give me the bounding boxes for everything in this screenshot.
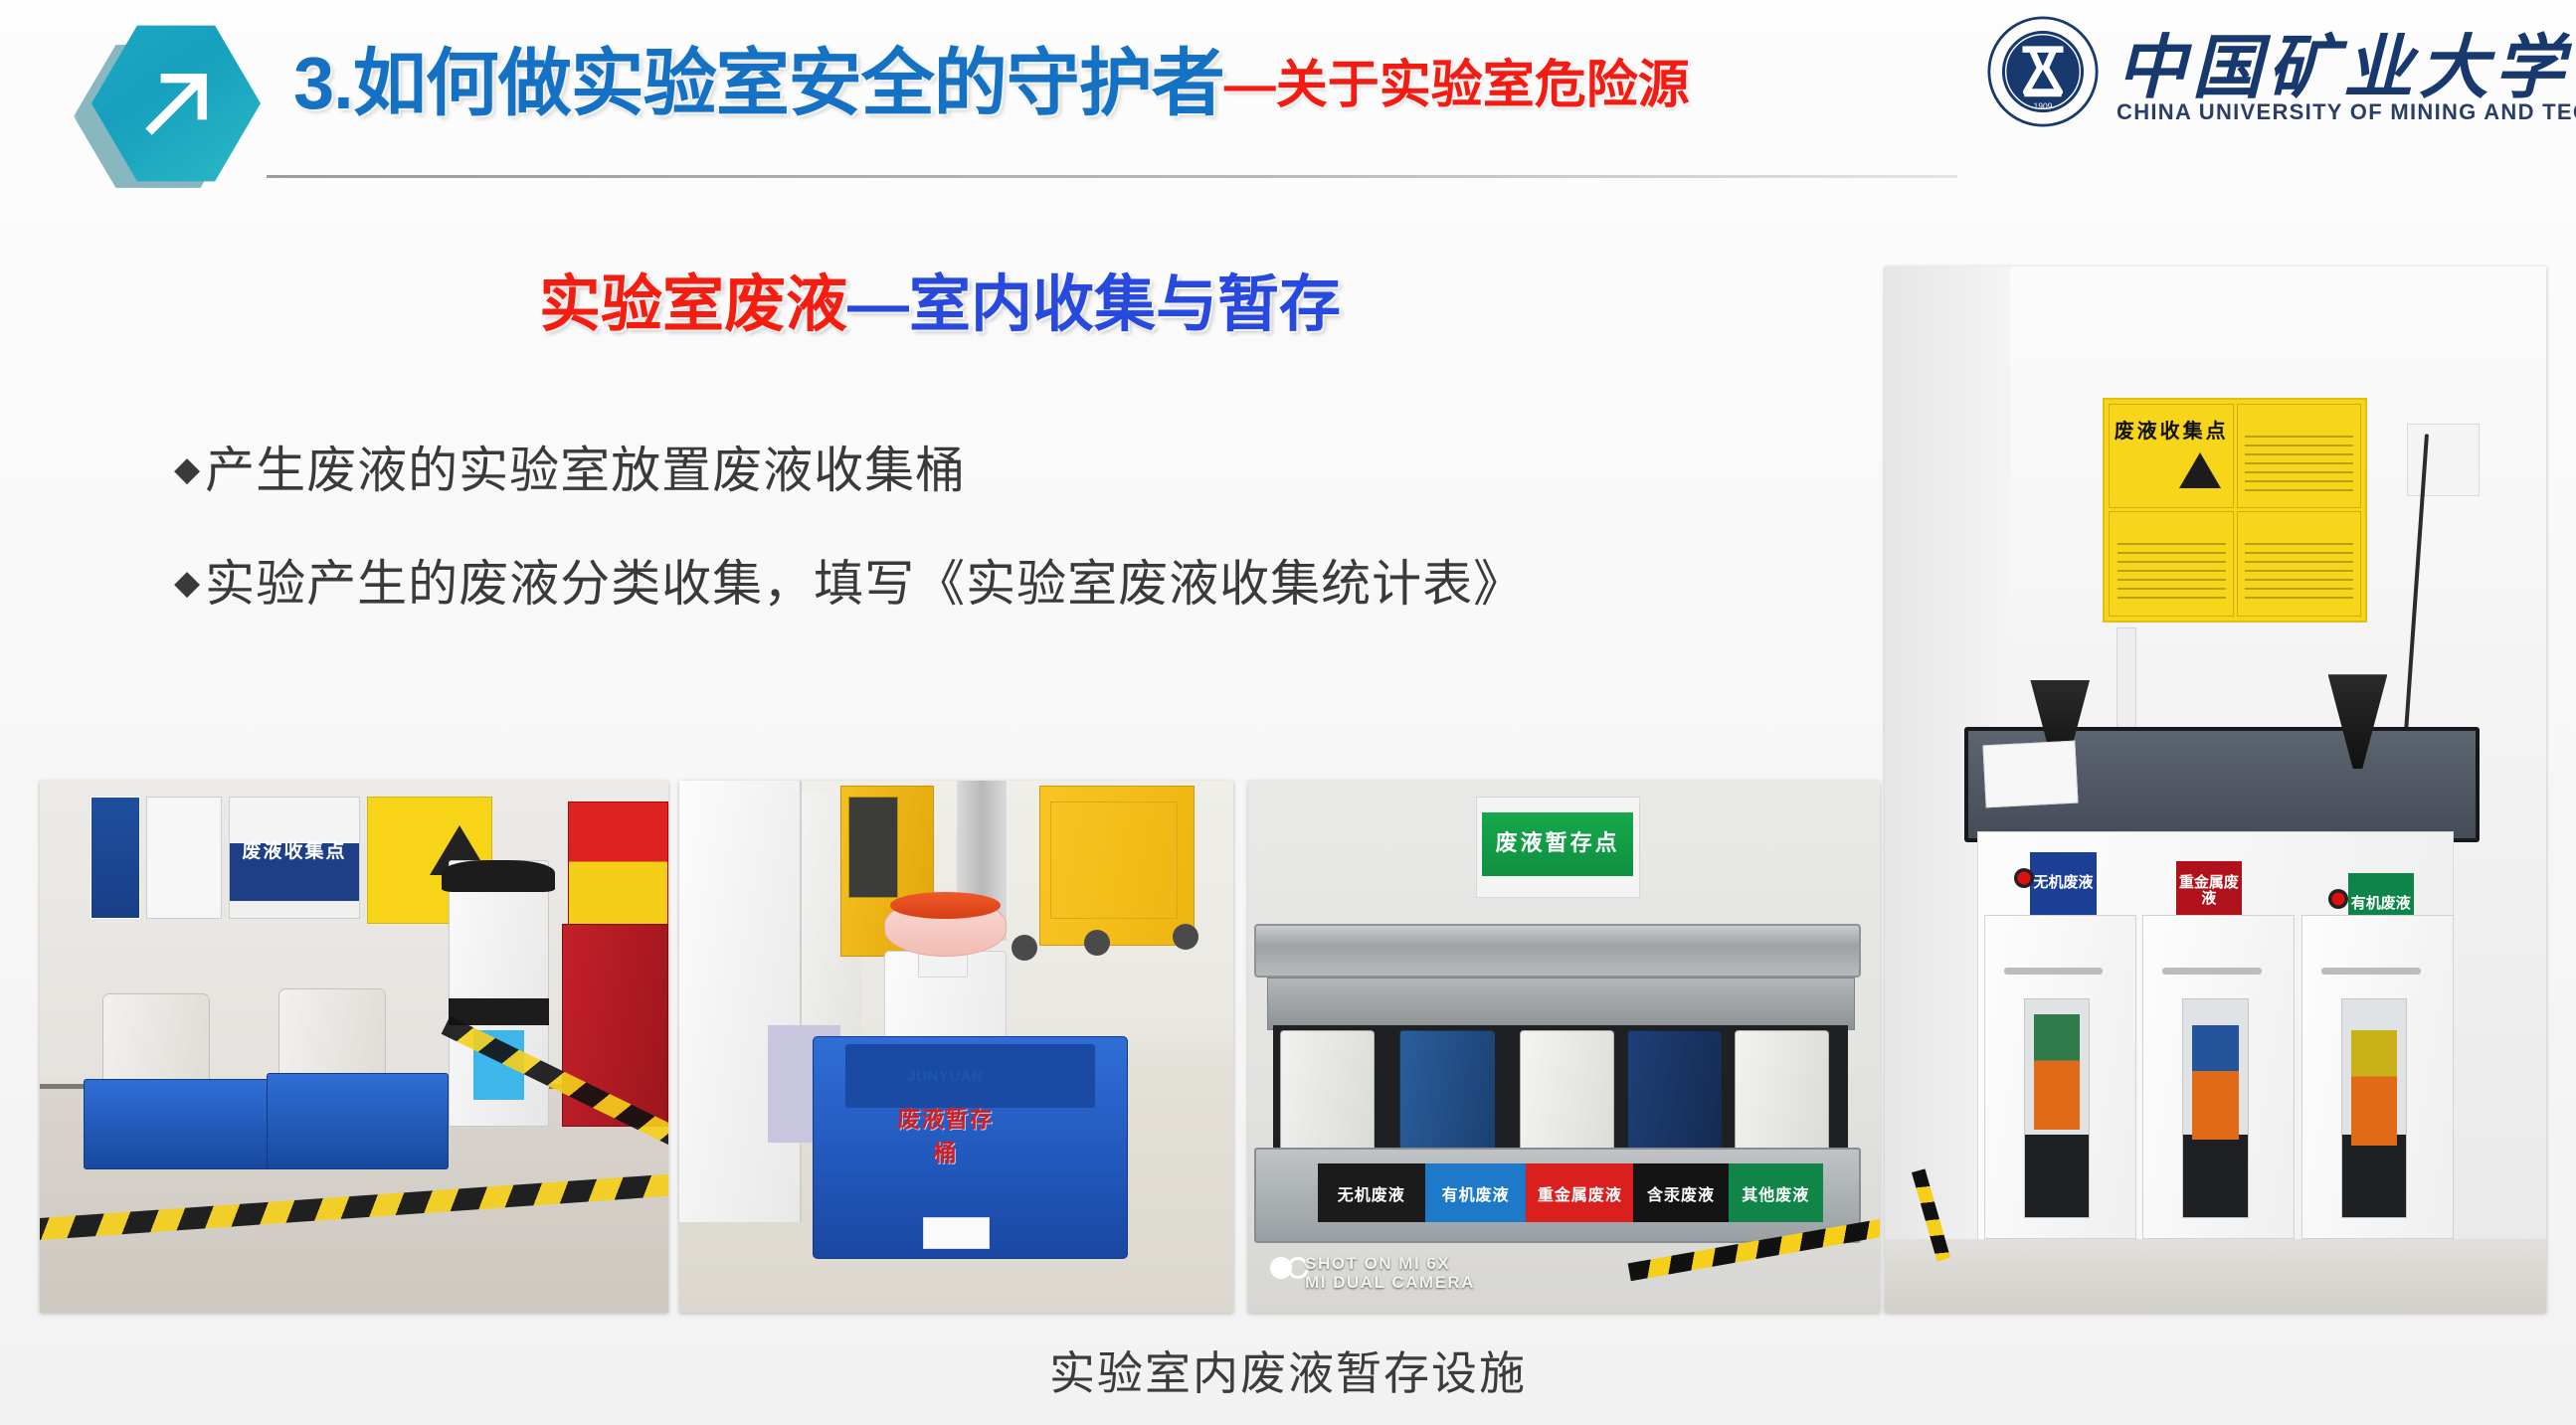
photo1-white-poster — [146, 797, 222, 919]
photo3-category-label: 无机废液 — [1318, 1163, 1425, 1222]
photo4-sign-cell-title: 废液收集点 — [2109, 404, 2234, 509]
photo4-pipe — [2116, 627, 2136, 732]
photo2-tray-tag — [923, 1217, 990, 1249]
photo4-wall-socket — [2407, 424, 2480, 497]
photo3-jerrycan — [1627, 1030, 1722, 1163]
photo3-category-label: 含汞废液 — [1633, 1163, 1728, 1222]
university-name-cn: 中国矿业大学 — [2116, 12, 2570, 112]
bullet-item: ◆产生废液的实验室放置废液收集桶 — [174, 445, 1815, 495]
photo3-green-sign-text: 废液暂存点 — [1482, 825, 1633, 857]
photo4-sign-text-lines — [2245, 543, 2353, 605]
photo3-rack-shelf — [1267, 978, 1855, 1031]
photo4-floor — [1885, 1239, 2546, 1313]
photo2-bucket-brand: JUNYUAN — [892, 1068, 998, 1085]
bullet-text: 产生废液的实验室放置废液收集桶 — [205, 443, 966, 498]
photo4-indicator-icon — [2014, 868, 2034, 888]
slide-root: 3.如何做实验室安全的守护者—关于实验室危险源 1909 中国矿业大学 CHIN… — [0, 0, 2576, 1425]
bullet-marker-icon: ◆ — [174, 450, 201, 488]
arrow-up-right-icon — [131, 62, 223, 145]
page-title-blue: —室内收集与暂存 — [847, 270, 1341, 339]
photo3-jerrycan — [1280, 1030, 1375, 1163]
photo-temporary-storage-bucket: JUNYUAN 废液暂存桶 — [679, 781, 1233, 1313]
bullet-marker-icon: ◆ — [174, 564, 201, 602]
photo4-container-label — [2192, 1025, 2239, 1141]
photo4-sign-cell-rules — [2109, 511, 2234, 617]
bullet-item: ◆实验产生的废液分类收集，填写《实验室废液收集统计表》 — [174, 559, 1815, 609]
header-title-line: 3.如何做实验室安全的守护者—关于实验室危险源 — [293, 24, 1690, 130]
photo-waste-storage-rack: 废液暂存点 无机废液 有机废液 重金属废液 含汞废液 其他废液 SHOT ON … — [1248, 781, 1880, 1313]
header-divider — [267, 175, 1957, 178]
photo4-door-handle — [2004, 968, 2104, 975]
photo4-hazard-triangle-icon — [2174, 445, 2226, 491]
page-title: 实验室废液—室内收集与暂存 — [0, 254, 1880, 343]
photo4-sign-text-lines — [2117, 543, 2226, 605]
photo-waste-collection-point: 废液收集点 — [40, 781, 668, 1313]
section-title: 3.如何做实验室安全的守护者 — [293, 42, 1224, 124]
photo3-watermark: SHOT ON MI 6X MI DUAL CAMERA — [1305, 1254, 1475, 1292]
university-seal-icon: 1909 — [1987, 16, 2099, 127]
figure-caption: 实验室内废液暂存设施 — [0, 1337, 2576, 1403]
university-logo: 1909 中国矿业大学 CHINA UNIVERSITY OF MINING A… — [1987, 12, 2554, 131]
photo4-yellow-sign: 废液收集点 — [2103, 398, 2367, 623]
photo1-waste-bin-lid — [442, 860, 555, 892]
photo4-door-handle — [2321, 968, 2421, 975]
section-subtitle: —关于实验室危险源 — [1224, 57, 1690, 114]
svg-text:1909: 1909 — [2034, 100, 2053, 110]
photo-waste-collection-cabinet: 废液收集点 无机废液 重金属废液 有机废液 — [1885, 267, 2546, 1313]
university-name-en: CHINA UNIVERSITY OF MINING AND TECHNOLOG… — [2116, 99, 2576, 125]
bullet-text: 实验产生的废液分类收集，填写《实验室废液收集统计表》 — [205, 556, 1524, 612]
photo2-caster-wheel — [1084, 930, 1110, 956]
photo1-spill-tray — [267, 1073, 449, 1168]
photo2-yellow-cabinet-window — [848, 797, 898, 898]
photo3-jerrycan — [1735, 1030, 1829, 1163]
photo2-funnel-lid — [890, 892, 1001, 919]
photo2-caster-wheel — [1173, 924, 1198, 950]
photo2-bucket-label: 废液暂存桶 — [890, 1100, 1001, 1167]
photo3-watermark-line2: MI DUAL CAMERA — [1305, 1273, 1475, 1292]
photo3-category-label: 重金属废液 — [1526, 1163, 1633, 1222]
photo4-cabinet-label: 重金属废液 — [2176, 861, 2243, 924]
photo2-yellow-cabinet-door — [1050, 802, 1178, 919]
photo2-white-cabinet — [679, 781, 802, 1222]
photo4-container-label — [2351, 1030, 2398, 1146]
photo3-jerrycan — [1520, 1030, 1614, 1163]
page-title-red: 实验室废液 — [539, 270, 847, 339]
photo4-sign-title: 废液收集点 — [2110, 415, 2233, 444]
photo1-red-safety-poster — [568, 802, 668, 935]
photo1-blue-poster — [91, 797, 141, 919]
photo3-watermark-line1: SHOT ON MI 6X — [1305, 1254, 1475, 1273]
photo4-sign-text-lines — [2245, 436, 2353, 497]
photo1-waste-bin-band — [449, 998, 549, 1025]
bullet-list: ◆产生废液的实验室放置废液收集桶 ◆实验产生的废液分类收集，填写《实验室废液收集… — [174, 445, 1815, 672]
photo4-sign-cell-chart — [2237, 511, 2362, 617]
photo1-collection-point-sign-text: 废液收集点 — [235, 836, 354, 863]
slide-header: 3.如何做实验室安全的守护者—关于实验室危险源 1909 中国矿业大学 CHIN… — [0, 0, 2576, 184]
photo3-rack-top — [1254, 924, 1861, 978]
photo3-category-label: 有机废液 — [1425, 1163, 1527, 1222]
section-badge — [70, 16, 259, 187]
photo4-cabinet-label: 无机废液 — [2030, 852, 2097, 915]
photo3-jerrycan — [1399, 1030, 1494, 1163]
photo4-sign-cell-notes — [2237, 404, 2362, 509]
photo4-record-sheet — [1982, 740, 2078, 807]
photo4-container-label — [2034, 1014, 2081, 1130]
photo4-door-handle — [2162, 968, 2262, 975]
photo1-spill-tray — [84, 1079, 273, 1169]
photo3-category-label: 其他废液 — [1729, 1163, 1823, 1222]
photo4-indicator-icon — [2328, 889, 2348, 909]
